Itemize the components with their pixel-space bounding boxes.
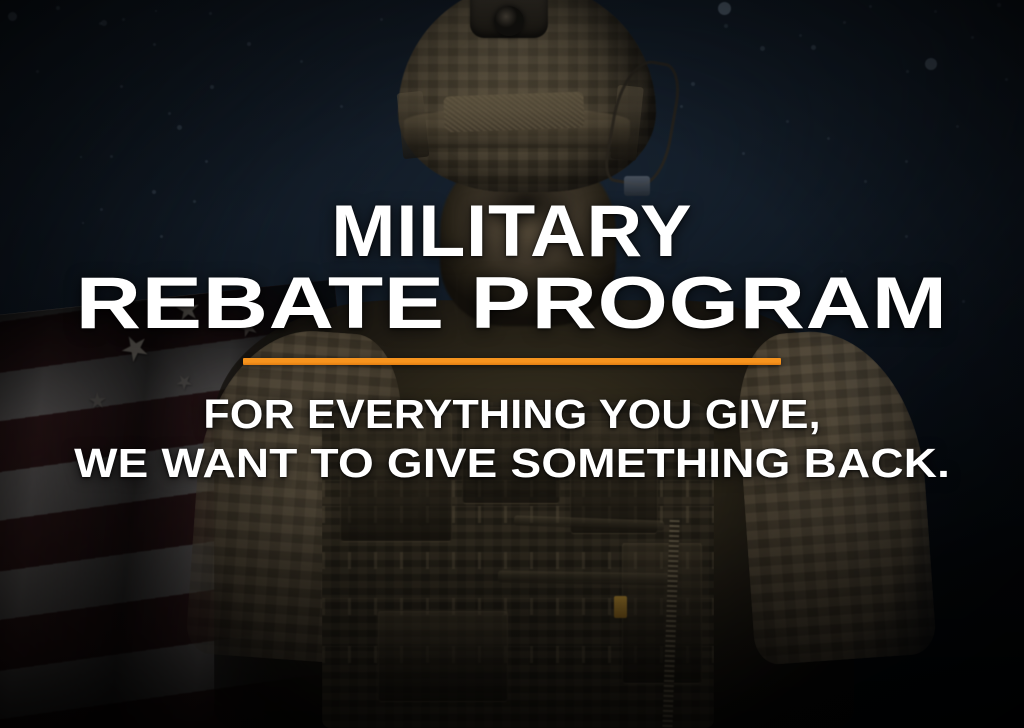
orange-divider-rule (243, 358, 781, 365)
banner-text-overlay: MILITARY REBATE PROGRAM FOR EVERYTHING Y… (0, 0, 1024, 728)
headline-line-2: REBATE PROGRAM (76, 270, 948, 338)
banner-headline: MILITARY REBATE PROGRAM (160, 198, 863, 338)
headline-line-1: MILITARY (139, 198, 884, 266)
subheadline-line-2: WE WANT TO GIVE SOMETHING BACK. (74, 440, 950, 488)
military-rebate-banner: ★ ★ ★ ★ ★ (0, 0, 1024, 728)
subheadline-line-1: FOR EVERYTHING YOU GIVE, (101, 391, 922, 439)
banner-subheadline: FOR EVERYTHING YOU GIVE, WE WANT TO GIVE… (121, 391, 903, 488)
